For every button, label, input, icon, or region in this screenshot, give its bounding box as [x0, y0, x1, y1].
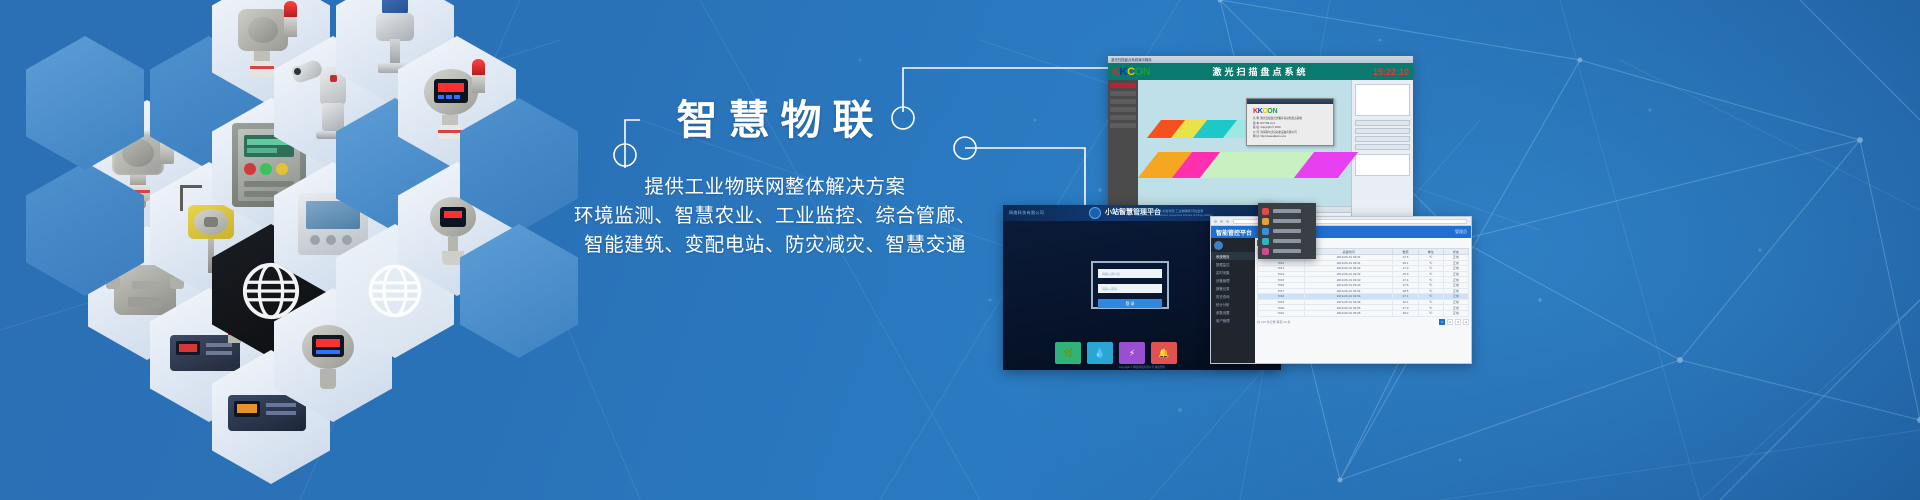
- hero-copy: 智慧物联 提供工业物联网整体解决方案 环境监测、智慧农业、工业监控、综合管廊、 …: [560, 96, 990, 260]
- subtitle-line-1: 提供工业物联网整体解决方案: [560, 173, 990, 202]
- page-1[interactable]: 1: [1439, 319, 1445, 325]
- delete-icon: [1262, 228, 1269, 235]
- data-table-window[interactable]: 智能管控平台 管理员 系统首页 数据监控 实时采集 设备管理 报警记录 历史查询…: [1210, 216, 1472, 364]
- subtitle-line-3: 智能建筑、变配电站、防灾减灾、智慧交通: [560, 231, 990, 260]
- sidebar-item-1[interactable]: 数据监控: [1211, 260, 1255, 268]
- histogram-chart: [1355, 84, 1410, 116]
- nav-item[interactable]: [1110, 99, 1136, 104]
- menu-item-1[interactable]: [1258, 216, 1316, 226]
- menu-item-4[interactable]: [1258, 246, 1316, 256]
- browser-chrome[interactable]: [1211, 217, 1471, 226]
- pager-info: 共 120 条记录 每页 20 条: [1257, 320, 1291, 324]
- context-menu-panel[interactable]: [1258, 203, 1316, 259]
- nav-item[interactable]: [1110, 107, 1136, 112]
- login-button[interactable]: 登 录: [1098, 299, 1162, 308]
- station-sub-cn: 欢迎登录 · 智能建筑 综合管廊 工业物联网 环境监测: [1135, 209, 1203, 213]
- edit-icon: [1262, 218, 1269, 225]
- about-row: 网 址: http://www.elkcon.com: [1253, 135, 1333, 140]
- nav-item[interactable]: [1110, 123, 1136, 128]
- sidebar-item-3[interactable]: 设备管理: [1211, 276, 1255, 284]
- print-icon: [1262, 248, 1269, 255]
- about-dialog-titlebar[interactable]: [1247, 99, 1333, 104]
- app-header: 智能管控平台 管理员: [1211, 226, 1471, 238]
- page-title: 智慧物联: [560, 96, 990, 144]
- station-sub-en: Transfer into farm production prospectiv…: [1135, 214, 1213, 217]
- user-block[interactable]: [1211, 238, 1255, 252]
- crest-icon: [1089, 207, 1101, 219]
- laser-right-panel[interactable]: [1351, 80, 1413, 224]
- menu-item-0[interactable]: [1258, 206, 1316, 216]
- sidebar[interactable]: 系统首页 数据监控 实时采集 设备管理 报警记录 历史查询 统计分析 参数设置 …: [1211, 238, 1255, 364]
- tile-alarm[interactable]: 🔔: [1151, 342, 1177, 364]
- password-placeholder: 请输入密码: [1102, 287, 1117, 291]
- table-cell: ℃: [1418, 310, 1443, 316]
- about-dialog-logo: KKCON: [1253, 108, 1333, 115]
- laser-header-title: 激光扫描盘点系统: [1108, 65, 1413, 78]
- station-corner-label: 网络科技有限公司: [1009, 210, 1044, 216]
- nav-item[interactable]: [1110, 83, 1136, 88]
- avatar: [1214, 241, 1223, 250]
- tile-energy[interactable]: ⚡: [1119, 342, 1145, 364]
- page-4[interactable]: 4: [1463, 319, 1469, 325]
- page-2[interactable]: 2: [1447, 319, 1453, 325]
- table-body: 70112019-06-01 09:3127.6℃正常70122019-06-0…: [1258, 255, 1469, 317]
- export-icon: [1262, 238, 1269, 245]
- laser-scan-window[interactable]: 激光扫描盘点系统演示程序 KKCON 激光扫描盘点系统 15:22:10: [1108, 56, 1413, 224]
- table-cell: 正常: [1443, 310, 1468, 316]
- sidebar-item-6[interactable]: 统计分析: [1211, 300, 1255, 308]
- page-3[interactable]: 3: [1455, 319, 1461, 325]
- quick-tiles: 🌿 💧 ⚡ 🔔: [1055, 342, 1177, 364]
- status-panel: [1355, 154, 1410, 176]
- username-field[interactable]: 请输入用户名: [1098, 269, 1162, 278]
- panel-button[interactable]: [1355, 144, 1410, 150]
- product-hex-cluster: [58, 0, 618, 498]
- tile-water[interactable]: 💧: [1087, 342, 1113, 364]
- sidebar-item-4[interactable]: 报警记录: [1211, 284, 1255, 292]
- menu-item-2[interactable]: [1258, 226, 1316, 236]
- add-icon: [1262, 208, 1269, 215]
- forward-icon[interactable]: [1220, 220, 1223, 223]
- laser-left-nav[interactable]: [1108, 80, 1138, 224]
- hero-banner: 智慧物联 提供工业物联网整体解决方案 环境监测、智慧农业、工业监控、综合管廊、 …: [0, 0, 1920, 500]
- password-field[interactable]: 请输入密码: [1098, 284, 1162, 293]
- sidebar-item-0[interactable]: 系统首页: [1211, 252, 1255, 260]
- table-window-body: 系统首页 数据监控 实时采集 设备管理 报警记录 历史查询 统计分析 参数设置 …: [1211, 238, 1471, 364]
- menu-item-3[interactable]: [1258, 236, 1316, 246]
- panel-button[interactable]: [1355, 120, 1410, 126]
- nav-item[interactable]: [1110, 115, 1136, 120]
- laser-header: KKCON 激光扫描盘点系统 15:22:10: [1108, 63, 1413, 80]
- current-user[interactable]: 管理员: [1455, 229, 1467, 235]
- username-placeholder: 请输入用户名: [1102, 272, 1120, 276]
- sidebar-item-8[interactable]: 用户管理: [1211, 316, 1255, 324]
- tile-environment[interactable]: 🌿: [1055, 342, 1081, 364]
- laser-window-title: 激光扫描盘点系统演示程序: [1111, 57, 1152, 62]
- login-panel[interactable]: 请输入用户名 请输入密码 登 录: [1091, 261, 1169, 309]
- back-icon[interactable]: [1214, 220, 1217, 223]
- laser-3d-canvas[interactable]: KKCON 名 称: 激光扫描盘点式粮库自动化盘点系统 版 本: DCYSS v…: [1138, 80, 1351, 224]
- panel-button[interactable]: [1355, 128, 1410, 134]
- laser-titlebar[interactable]: 激光扫描盘点系统演示程序: [1108, 56, 1413, 63]
- sidebar-item-5[interactable]: 历史查询: [1211, 292, 1255, 300]
- subtitle-line-2: 环境监测、智慧农业、工业监控、综合管廊、: [560, 202, 990, 231]
- panel-button[interactable]: [1355, 136, 1410, 142]
- app-title: 智能管控平台: [1216, 228, 1252, 237]
- table-cell: 28.2: [1393, 310, 1418, 316]
- sidebar-item-2[interactable]: 实时采集: [1211, 268, 1255, 276]
- about-dialog[interactable]: KKCON 名 称: 激光扫描盘点式粮库自动化盘点系统 版 本: DCYSS v…: [1246, 98, 1334, 146]
- sidebar-item-7[interactable]: 参数设置: [1211, 308, 1255, 316]
- subtitle-block: 提供工业物联网整体解决方案 环境监测、智慧农业、工业监控、综合管廊、 智能建筑、…: [560, 173, 990, 260]
- table-cell: 2019-06-01 09:36: [1304, 310, 1393, 316]
- table-row[interactable]: 70212019-06-01 09:3628.2℃正常: [1258, 310, 1469, 316]
- laser-clock: 15:22:10: [1373, 67, 1409, 77]
- nav-item[interactable]: [1110, 91, 1136, 96]
- station-footer: Copyright © 网络科技有限公司 版权所有: [1003, 365, 1281, 370]
- reload-icon[interactable]: [1226, 220, 1229, 223]
- pagination[interactable]: 共 120 条记录 每页 20 条 1 2 3 4: [1257, 319, 1469, 325]
- table-cell: 7021: [1258, 310, 1305, 316]
